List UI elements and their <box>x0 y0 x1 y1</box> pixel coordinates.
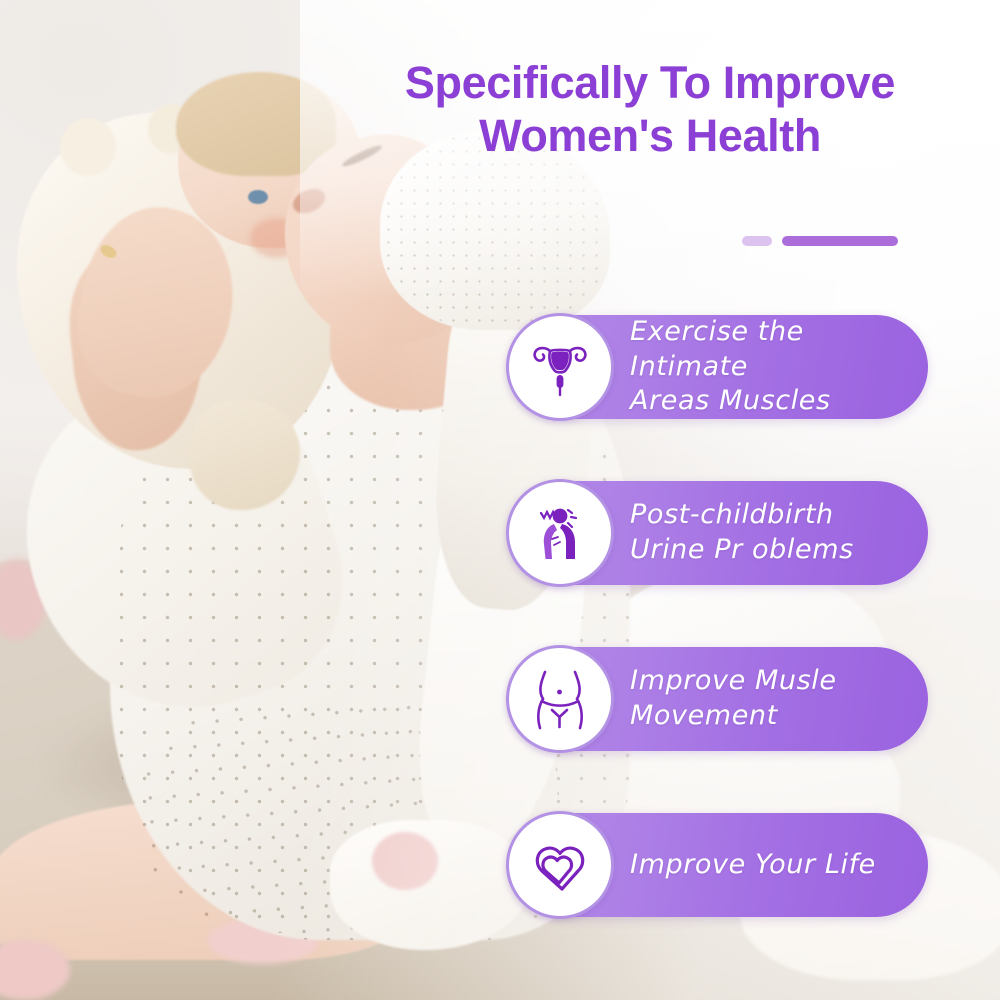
baby-hair <box>176 72 336 176</box>
feature-label: Improve Your Life <box>630 848 876 883</box>
feature-item-improve-muscle-movement[interactable]: Improve Musle Movement <box>508 647 928 751</box>
feature-item-postchildbirth-urine-problems[interactable]: Post-childbirth Urine Pr oblems <box>508 481 928 585</box>
divider-dash-long <box>782 236 898 246</box>
feature-label: Exercise the Intimate Areas Muscles <box>630 315 906 419</box>
feature-list: Exercise the Intimate Areas Muscles <box>508 315 928 917</box>
feature-label: Improve Musle Movement <box>630 664 837 733</box>
uterus-probe-icon <box>506 313 614 421</box>
female-torso-pelvis-icon <box>506 645 614 753</box>
double-heart-icon <box>506 811 614 919</box>
baby-eye <box>248 190 268 204</box>
sock-pink-accent <box>372 832 438 890</box>
feature-item-exercise-intimate-muscles[interactable]: Exercise the Intimate Areas Muscles <box>508 315 928 419</box>
promo-poster: Specifically To Improve Women's Health <box>0 0 1000 1000</box>
divider <box>742 236 898 246</box>
feature-item-improve-your-life[interactable]: Improve Your Life <box>508 813 928 917</box>
divider-dash-short <box>742 236 772 246</box>
page-title: Specifically To Improve Women's Health <box>340 56 960 162</box>
baby-suit-ear-left <box>60 118 116 176</box>
feature-label: Post-childbirth Urine Pr oblems <box>630 498 854 567</box>
postpartum-urine-pain-icon <box>506 479 614 587</box>
